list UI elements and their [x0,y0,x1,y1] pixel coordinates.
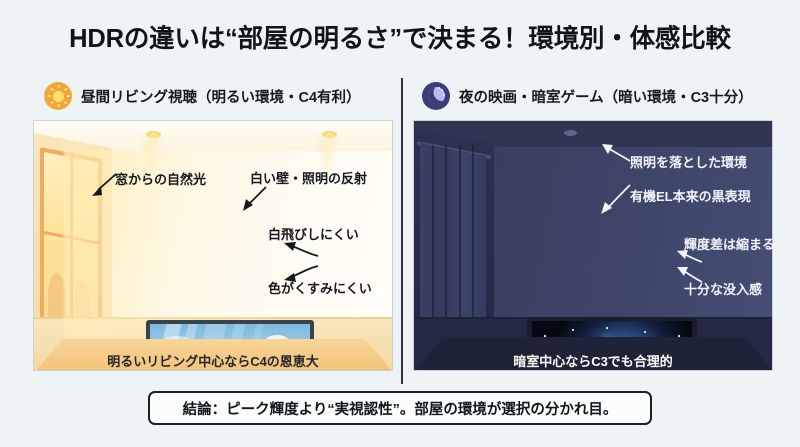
arrow-wall-reflection [238,185,270,213]
arrow-no-color-dulling [278,262,320,284]
arrow-dimmed-lighting [600,143,634,167]
annotation-natural-light: 窓からの自然光 [115,169,206,188]
infographic-root: HDRの違いは“部屋の明るさ”で決まる！環境別・体感比較 昼間リビング視聴（明る… [0,0,800,447]
left-caption-text: 明るいリビング中心ならC4の恩恵大 [33,351,393,370]
conclusion-banner: 結論：ピーク輝度より“実視認性”。部屋の環境が選択の分かれ目。 [148,391,652,425]
moon-icon [422,82,450,110]
page-title: HDRの違いは“部屋の明るさ”で決まる！環境別・体感比較 [0,18,800,55]
arrow-immersion [672,264,704,286]
left-panel-title: 昼間リビング視聴（明るい環境・C4有利） [81,86,361,107]
arrow-no-clipping [278,240,320,262]
right-panel-title: 夜の映画・暗室ゲーム（暗い環境・C3十分） [459,86,753,107]
right-panel-header: 夜の映画・暗室ゲーム（暗い環境・C3十分） [422,82,753,110]
sun-icon [44,82,72,110]
left-scene-illustration [33,120,393,371]
annotation-oled-black: 有機EL本来の黒表現 [630,186,751,205]
conclusion-text: 結論：ピーク輝度より“実視認性”。部屋の環境が選択の分かれ目。 [183,398,618,419]
arrow-natural-light [88,172,118,198]
arrow-oled-black [598,182,634,216]
right-caption-text: 暗室中心ならC3でも合理的 [413,351,773,370]
annotation-dimmed-lighting: 照明を落とした環境 [630,152,747,171]
panel-divider [401,78,403,384]
left-panel-header: 昼間リビング視聴（明るい環境・C4有利） [44,82,361,110]
